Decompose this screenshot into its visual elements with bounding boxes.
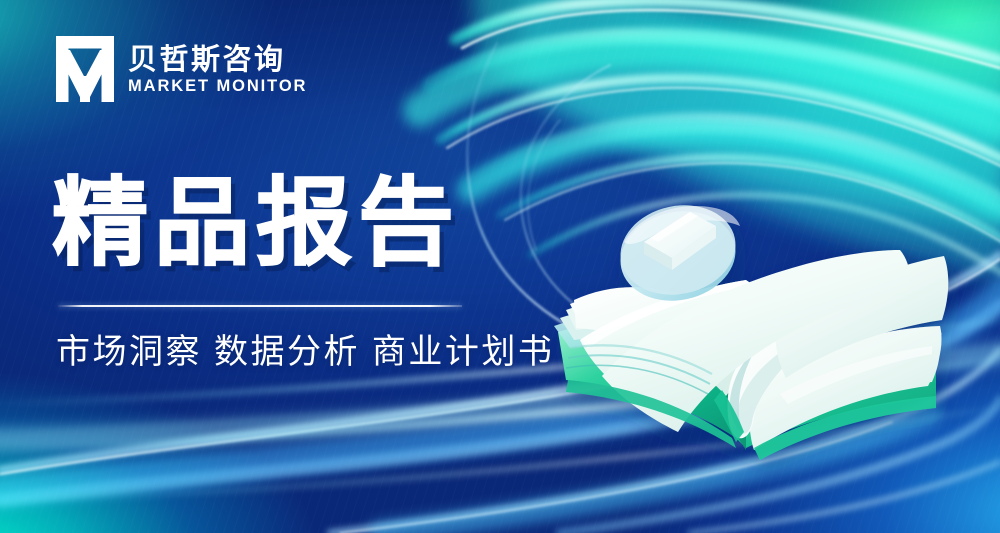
market-monitor-m-logo-icon [56, 36, 114, 102]
open-book-icon [540, 150, 960, 480]
brand-logo[interactable]: 贝哲斯咨询 MARKET MONITOR [56, 36, 307, 102]
brand-name-en: MARKET MONITOR [128, 78, 307, 95]
promo-banner: 贝哲斯咨询 MARKET MONITOR 精品报告 市场洞察 数据分析 商业计划… [0, 0, 1000, 533]
brand-name-cn: 贝哲斯咨询 [128, 46, 307, 75]
page-title: 精品报告 [52, 172, 460, 276]
page-subtitle: 市场洞察 数据分析 商业计划书 [56, 332, 554, 373]
title-divider [58, 305, 462, 307]
brand-logo-text: 贝哲斯咨询 MARKET MONITOR [128, 44, 307, 95]
